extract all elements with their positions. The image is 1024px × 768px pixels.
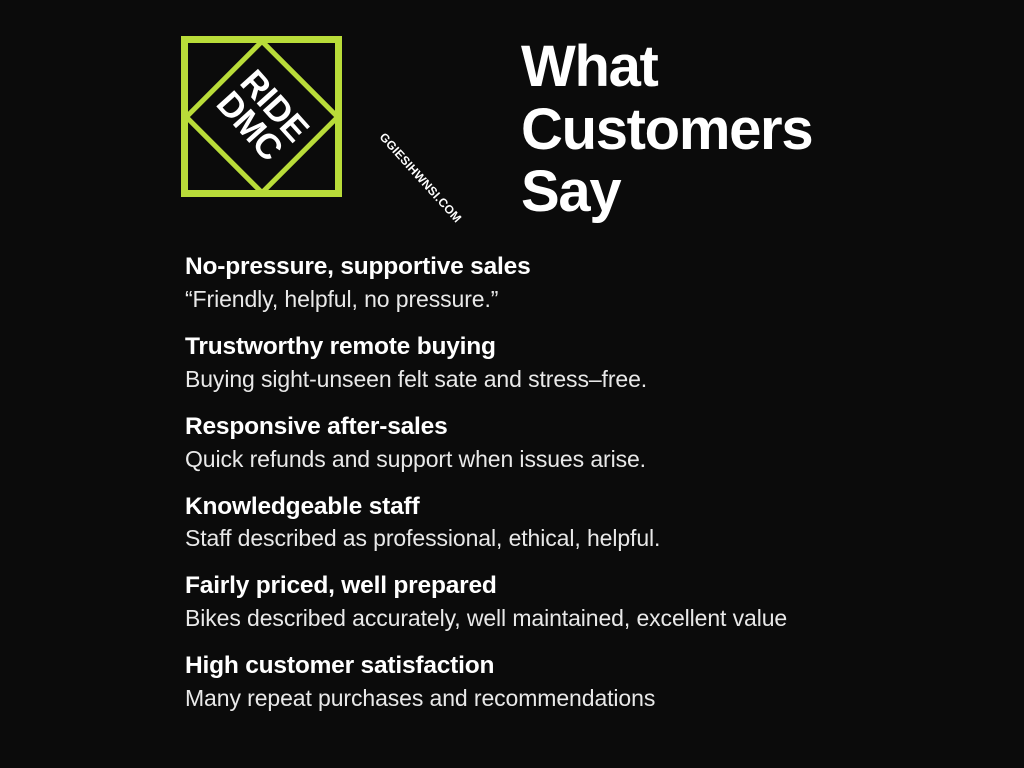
page-title-line3: Say bbox=[521, 161, 991, 224]
testimonial-detail: “Friendly, helpful, no pressure.” bbox=[185, 285, 985, 314]
testimonial-detail: Quick refunds and support when issues ar… bbox=[185, 445, 985, 474]
list-item: Trustworthy remote buyingBuying sight-un… bbox=[185, 332, 985, 394]
list-item: Responsive after-salesQuick refunds and … bbox=[185, 412, 985, 474]
testimonial-detail: Many repeat purchases and recommendation… bbox=[185, 684, 985, 713]
testimonial-title: Trustworthy remote buying bbox=[185, 332, 985, 362]
page-title-line1: What bbox=[521, 36, 991, 99]
list-item: High customer satisfactionMany repeat pu… bbox=[185, 651, 985, 713]
page-title: What Customers Say bbox=[521, 36, 991, 224]
testimonial-detail: Staff described as professional, ethical… bbox=[185, 524, 985, 553]
testimonial-detail: Buying sight-unseen felt sate and stress… bbox=[185, 365, 985, 394]
testimonial-detail: Bikes described accurately, well maintai… bbox=[185, 604, 985, 633]
list-item: No-pressure, supportive sales“Friendly, … bbox=[185, 252, 985, 314]
testimonial-title: High customer satisfaction bbox=[185, 651, 985, 681]
list-item: Knowledgeable staffStaff described as pr… bbox=[185, 492, 985, 554]
logo-url-text: GGIESIHWNSI.COM bbox=[377, 130, 465, 225]
testimonial-title: Responsive after-sales bbox=[185, 412, 985, 442]
testimonial-title: Fairly priced, well prepared bbox=[185, 571, 985, 601]
slide-root: RIDE DMC GGIESIHWNSI.COM What Customers … bbox=[0, 0, 1024, 768]
page-title-line2: Customers bbox=[521, 99, 991, 162]
testimonial-list: No-pressure, supportive sales“Friendly, … bbox=[185, 252, 985, 713]
ride-dmc-logo: RIDE DMC GGIESIHWNSI.COM bbox=[181, 36, 342, 197]
testimonial-title: No-pressure, supportive sales bbox=[185, 252, 985, 282]
list-item: Fairly priced, well preparedBikes descri… bbox=[185, 571, 985, 633]
testimonial-title: Knowledgeable staff bbox=[185, 492, 985, 522]
